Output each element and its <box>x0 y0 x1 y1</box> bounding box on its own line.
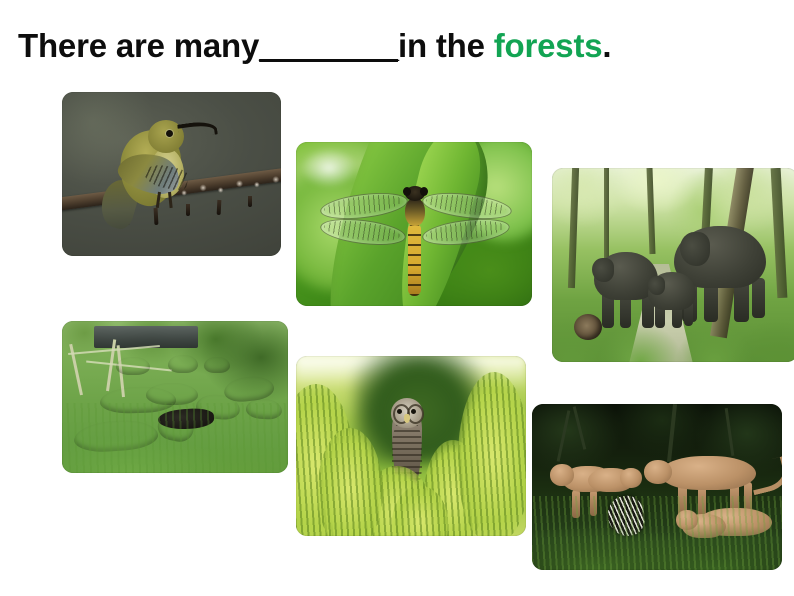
owl-eye <box>397 409 402 414</box>
owl-beak <box>404 414 410 423</box>
abdomen-segments <box>408 224 421 296</box>
thorn-shape <box>186 204 190 216</box>
shed-roof <box>94 326 198 348</box>
elephant-leg <box>704 282 718 322</box>
dragonfly-eye <box>420 187 428 196</box>
owl-eye-ring <box>407 404 424 424</box>
photo-bird <box>62 92 281 256</box>
photo-lions <box>532 404 782 570</box>
conifer-shape <box>458 372 526 536</box>
lion-standing <box>660 456 756 490</box>
elephant-leg <box>752 278 765 318</box>
conifer-shape <box>318 428 382 536</box>
photo-dragonfly <box>296 142 532 306</box>
tiger-shape <box>204 357 230 373</box>
photo-owl <box>296 356 526 536</box>
dragonfly-eye <box>403 187 411 196</box>
foreground-grass <box>62 403 288 473</box>
tiger-shape <box>168 355 198 373</box>
photo-elephants <box>552 168 794 362</box>
night-grass <box>532 496 782 570</box>
title-suffix: . <box>602 27 611 64</box>
tree-trunk <box>604 168 609 268</box>
elephant-ear <box>680 232 710 266</box>
thorn-shape <box>248 196 252 207</box>
owl-eye <box>411 409 416 414</box>
title-middle: in the <box>398 27 494 64</box>
elephant-ear <box>648 276 665 295</box>
dragonfly-highlight <box>300 148 358 188</box>
photo-tigers <box>62 321 288 473</box>
title-prefix: There are many <box>18 27 259 64</box>
lion-head <box>644 460 672 484</box>
elephant-ear <box>592 258 614 282</box>
thorn-shape <box>217 200 222 215</box>
lion-head <box>620 468 642 488</box>
title-blank: ________ <box>259 27 398 64</box>
page-title: There are many________in the forests. <box>18 26 778 70</box>
bird-eye <box>166 130 173 137</box>
title-keyword: forests <box>494 27 603 64</box>
dragonfly-thorax <box>405 198 425 226</box>
lion-head <box>550 464 574 486</box>
log-shape <box>574 314 602 340</box>
tiger-shape <box>116 357 150 375</box>
thorn-shape <box>154 208 159 225</box>
